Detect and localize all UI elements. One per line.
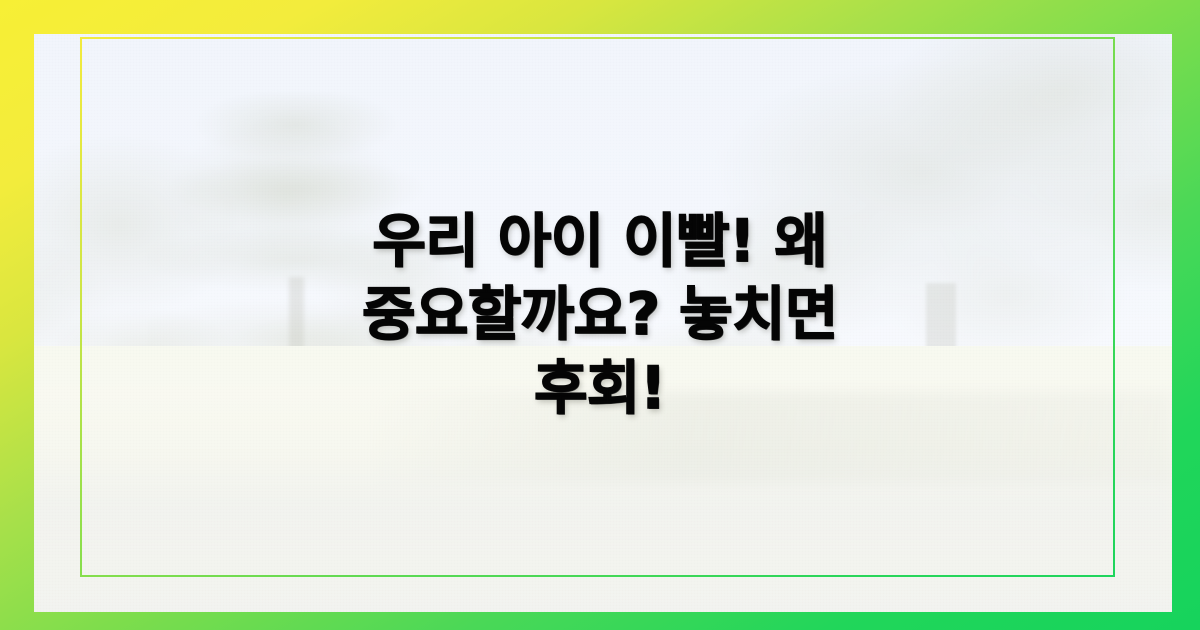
thumbnail-card: 우리 아이 이빨! 왜 중요할까요? 놓치면 후회!	[0, 0, 1200, 630]
page-title: 우리 아이 이빨! 왜 중요할까요? 놓치면 후회!	[270, 205, 930, 426]
headline-container: 우리 아이 이빨! 왜 중요할까요? 놓치면 후회!	[0, 0, 1200, 630]
